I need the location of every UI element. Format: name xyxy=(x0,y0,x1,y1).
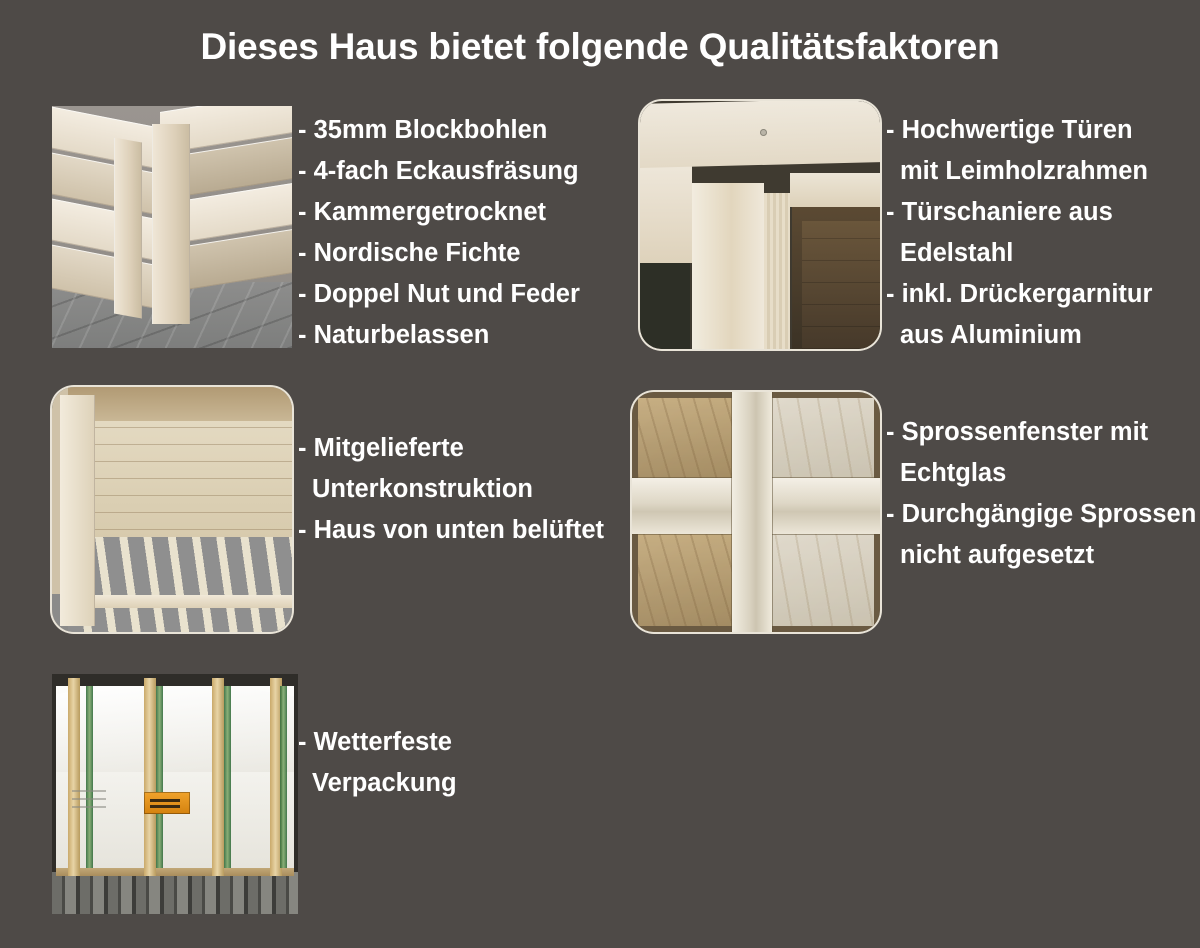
feature-text-blockbohlen: - 35mm Blockbohlen - 4-fach Eckausfräsun… xyxy=(298,110,580,356)
photo-interior-floor-joists xyxy=(52,387,292,632)
feature-line: nicht aufgesetzt xyxy=(886,535,1196,576)
feature-line: - Wetterfeste xyxy=(298,722,457,763)
photo-door-frame-detail xyxy=(640,101,880,349)
feature-text-tueren: - Hochwertige Türen mit Leimholzrahmen -… xyxy=(886,110,1152,356)
feature-line: - Türschaniere aus xyxy=(886,192,1152,233)
feature-line: aus Aluminium xyxy=(886,315,1152,356)
photo-window-mullion-detail xyxy=(632,392,880,632)
feature-text-unterkonstruktion: - Mitgelieferte Unterkonstruktion - Haus… xyxy=(298,428,604,551)
feature-line: - Hochwertige Türen xyxy=(886,110,1152,151)
feature-line: - inkl. Drückergarnitur xyxy=(886,274,1152,315)
page-title: Dieses Haus bietet folgende Qualitätsfak… xyxy=(0,26,1200,68)
photo-wrapped-pallet-packaging xyxy=(52,674,298,914)
feature-line: - Haus von unten belüftet xyxy=(298,510,604,551)
quality-factors-poster: Dieses Haus bietet folgende Qualitätsfak… xyxy=(0,0,1200,948)
feature-line: mit Leimholzrahmen xyxy=(886,151,1152,192)
feature-line: - Doppel Nut und Feder xyxy=(298,274,580,315)
feature-line: - 35mm Blockbohlen xyxy=(298,110,580,151)
feature-line: Verpackung xyxy=(298,763,457,804)
feature-line: - 4-fach Eckausfräsung xyxy=(298,151,580,192)
feature-line: - Kammergetrocknet xyxy=(298,192,580,233)
feature-text-verpackung: - Wetterfeste Verpackung xyxy=(298,722,457,804)
feature-line: - Naturbelassen xyxy=(298,315,580,356)
feature-line: - Nordische Fichte xyxy=(298,233,580,274)
feature-line: Echtglas xyxy=(886,453,1196,494)
feature-line: - Mitgelieferte xyxy=(298,428,604,469)
feature-line: Unterkonstruktion xyxy=(298,469,604,510)
feature-text-sprossenfenster: - Sprossenfenster mit Echtglas - Durchgä… xyxy=(886,412,1196,576)
photo-corner-joint-log-boards xyxy=(52,106,292,348)
feature-line: Edelstahl xyxy=(886,233,1152,274)
feature-line: - Durchgängige Sprossen xyxy=(886,494,1196,535)
feature-line: - Sprossenfenster mit xyxy=(886,412,1196,453)
